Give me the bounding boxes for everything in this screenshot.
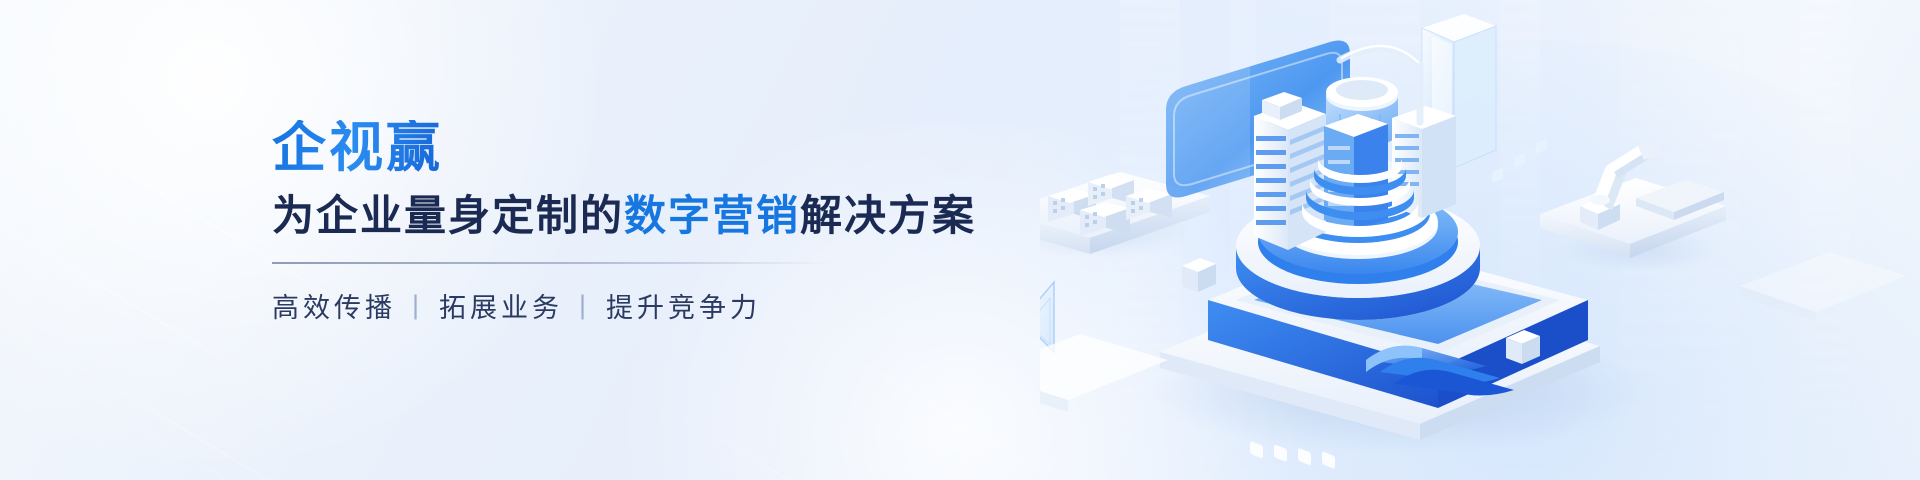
- tagline: 高效传播 | 拓展业务 | 提升竞争力: [272, 286, 892, 325]
- isometric-illustration: [1040, 0, 1920, 480]
- tagline-item-2: 拓展业务: [439, 286, 563, 325]
- hero-copy-block: 企视赢 为企业量身定制的数字营销解决方案 高效传播 | 拓展业务 | 提升竞争力: [272, 120, 892, 325]
- lower-left-slab: [1040, 334, 1168, 412]
- tagline-separator-1: |: [412, 290, 423, 321]
- hero-banner: 企视赢 为企业量身定制的数字营销解决方案 高效传播 | 拓展业务 | 提升竞争力: [0, 0, 1920, 480]
- tagline-item-1: 高效传播: [272, 286, 396, 325]
- brand-title: 企视赢: [272, 120, 443, 177]
- headline-prefix: 为企业量身定制的: [272, 192, 624, 239]
- headline-highlight: 数字营销: [624, 192, 800, 239]
- divider-rule: [272, 262, 832, 264]
- glass-triangle: [1040, 282, 1054, 352]
- headline: 为企业量身定制的数字营销解决方案: [272, 191, 892, 241]
- platform-side-lights: [1492, 138, 1547, 183]
- far-right-faint-pad: [1740, 252, 1906, 322]
- tagline-item-3: 提升竞争力: [606, 286, 761, 325]
- tagline-separator-2: |: [579, 290, 590, 321]
- robot-arm-pad: [1540, 0, 1726, 258]
- headline-suffix: 解决方案: [800, 192, 976, 239]
